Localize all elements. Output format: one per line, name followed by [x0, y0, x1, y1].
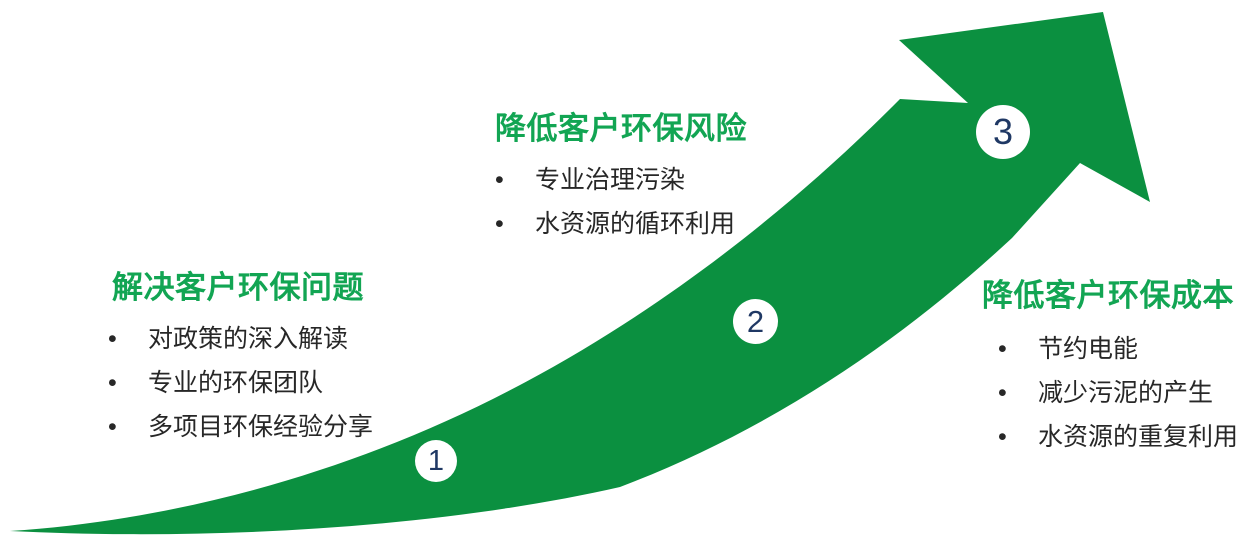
bullet-dot-icon: •: [998, 337, 1038, 362]
list-item: • 专业的环保团队: [108, 371, 373, 396]
list-item-label: 减少污泥的产生: [1038, 381, 1213, 406]
bullet-dot-icon: •: [495, 168, 535, 193]
group-1-bullet-list: • 对政策的深入解读 • 专业的环保团队 • 多项目环保经验分享: [108, 327, 373, 440]
step-marker-2-label: 2: [747, 306, 764, 337]
list-item: • 减少污泥的产生: [998, 381, 1238, 406]
list-item-label: 多项目环保经验分享: [148, 415, 373, 440]
list-item: • 对政策的深入解读: [108, 327, 373, 352]
step-marker-3: 3: [976, 105, 1030, 159]
list-item-label: 水资源的循环利用: [535, 212, 735, 237]
group-3-heading: 降低客户环保成本: [982, 280, 1238, 313]
group-2-bullet-list: • 专业治理污染 • 水资源的循环利用: [495, 168, 747, 237]
text-group-1: 解决客户环保问题 • 对政策的深入解读 • 专业的环保团队 • 多项目环保经验分…: [108, 272, 373, 459]
bullet-dot-icon: •: [495, 212, 535, 237]
step-marker-3-label: 3: [993, 114, 1013, 150]
step-marker-1-label: 1: [428, 447, 444, 476]
group-2-heading: 降低客户环保风险: [495, 113, 747, 146]
bullet-dot-icon: •: [998, 381, 1038, 406]
list-item: • 节约电能: [998, 337, 1238, 362]
text-group-2: 降低客户环保风险 • 专业治理污染 • 水资源的循环利用: [495, 113, 747, 256]
bullet-dot-icon: •: [108, 415, 148, 440]
group-1-heading: 解决客户环保问题: [112, 272, 373, 305]
bullet-dot-icon: •: [108, 327, 148, 352]
list-item-label: 专业治理污染: [535, 168, 685, 193]
list-item-label: 水资源的重复利用: [1038, 425, 1238, 450]
list-item: • 专业治理污染: [495, 168, 747, 193]
list-item-label: 专业的环保团队: [148, 371, 323, 396]
step-marker-1: 1: [415, 440, 457, 482]
bullet-dot-icon: •: [998, 425, 1038, 450]
list-item-label: 节约电能: [1038, 337, 1138, 362]
list-item: • 多项目环保经验分享: [108, 415, 373, 440]
list-item: • 水资源的重复利用: [998, 425, 1238, 450]
bullet-dot-icon: •: [108, 371, 148, 396]
list-item-label: 对政策的深入解读: [148, 327, 348, 352]
group-3-bullet-list: • 节约电能 • 减少污泥的产生 • 水资源的重复利用: [998, 337, 1238, 450]
text-group-3: 降低客户环保成本 • 节约电能 • 减少污泥的产生 • 水资源的重复利用: [982, 280, 1238, 469]
slide-canvas: 1 2 3 解决客户环保问题 • 对政策的深入解读 • 专业的环保团队 • 多项…: [0, 0, 1248, 543]
list-item: • 水资源的循环利用: [495, 212, 747, 237]
step-marker-2: 2: [733, 299, 778, 344]
